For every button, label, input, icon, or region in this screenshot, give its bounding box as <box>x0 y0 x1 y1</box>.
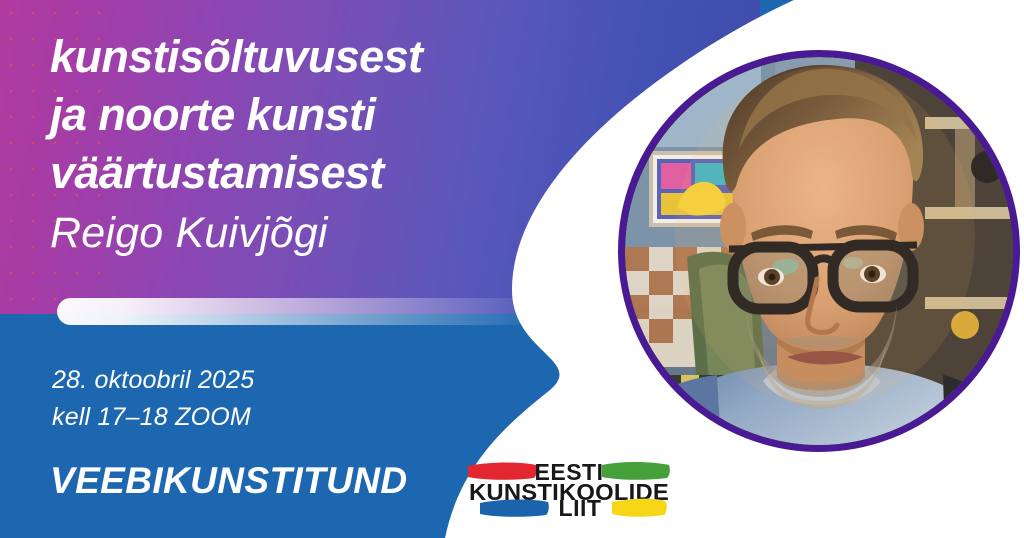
event-date: 28. oktoobril 2025 <box>52 362 254 399</box>
title-block: kunstisõltuvusest ja noorte kunsti väärt… <box>50 28 570 262</box>
eesti-kunstikoolide-liit-logo: EESTI KUNSTIKOOLIDE LIIT <box>466 455 672 517</box>
divider-pill <box>57 298 527 325</box>
speaker-name: Reigo Kuivjõgi <box>50 204 570 262</box>
event-time: kell 17–18 ZOOM <box>52 399 254 436</box>
title-line-1: kunstisõltuvusest <box>50 28 570 86</box>
speaker-portrait <box>618 50 1020 452</box>
title-line-3: väärtustamisest <box>50 144 570 202</box>
portrait-image <box>625 57 1013 445</box>
title-line-2: ja noorte kunsti <box>50 86 570 144</box>
svg-text:LIIT: LIIT <box>559 495 602 517</box>
event-headline: VEEBIKUNSTITUND <box>50 459 408 503</box>
event-info-block: 28. oktoobril 2025 kell 17–18 ZOOM <box>52 362 254 436</box>
event-poster: kunstisõltuvusest ja noorte kunsti väärt… <box>0 0 1024 538</box>
